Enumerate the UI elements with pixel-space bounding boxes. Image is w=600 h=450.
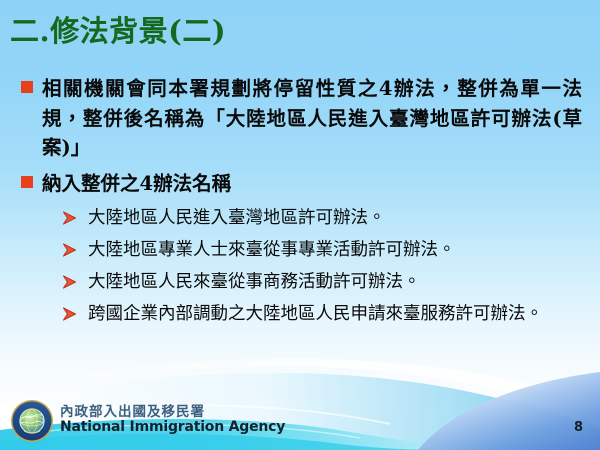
bullet-item: 納入整併之4辦法名稱 [0, 169, 600, 199]
sub-bullet-text: 跨國企業內部調動之大陸地區人民申請來臺服務許可辦法。 [88, 304, 543, 324]
bullet-item: 相關機關會同本署規劃將停留性質之4辦法，整併為單一法規，整併後名稱為「大陸地區人… [0, 74, 600, 163]
red-arrow-bullet-icon [61, 210, 78, 226]
bullet-text: 納入整併之4辦法名稱 [42, 172, 231, 195]
sub-bullet-item: 大陸地區人民來臺從事商務活動許可辦法。 [0, 269, 600, 296]
slide-content: 相關機關會同本署規劃將停留性質之4辦法，整併為單一法規，整併後名稱為「大陸地區人… [0, 74, 600, 328]
sub-bullet-item: 大陸地區人民進入臺灣地區許可辦法。 [0, 205, 600, 232]
sub-bullet-item: 跨國企業內部調動之大陸地區人民申請來臺服務許可辦法。 [0, 301, 600, 328]
footer-agency-name: 內政部入出國及移民署 National Immigration Agency [60, 405, 285, 435]
red-arrow-bullet-icon [61, 242, 78, 258]
national-immigration-agency-emblem-icon [10, 399, 54, 443]
red-arrow-bullet-icon [61, 306, 78, 322]
red-square-bullet-icon [21, 81, 33, 93]
sub-bullet-item: 大陸地區專業人士來臺從事專業活動許可辦法。 [0, 237, 600, 264]
sub-bullet-text: 大陸地區專業人士來臺從事專業活動許可辦法。 [88, 240, 456, 260]
red-square-bullet-icon [21, 176, 33, 188]
sub-bullet-text: 大陸地區人民來臺從事商務活動許可辦法。 [88, 272, 421, 292]
bullet-text: 相關機關會同本署規劃將停留性質之4辦法，整併為單一法規，整併後名稱為「大陸地區人… [42, 77, 582, 159]
red-arrow-bullet-icon [61, 274, 78, 290]
slide-title: 二.修法背景(二) [10, 8, 226, 50]
page-number: 8 [574, 420, 583, 435]
presentation-slide: 二.修法背景(二) 相關機關會同本署規劃將停留性質之4辦法，整併為單一法規，整併… [0, 0, 600, 450]
agency-name-english: National Immigration Agency [60, 420, 285, 435]
agency-name-chinese: 內政部入出國及移民署 [60, 405, 285, 419]
sub-bullet-text: 大陸地區人民進入臺灣地區許可辦法。 [88, 208, 386, 228]
